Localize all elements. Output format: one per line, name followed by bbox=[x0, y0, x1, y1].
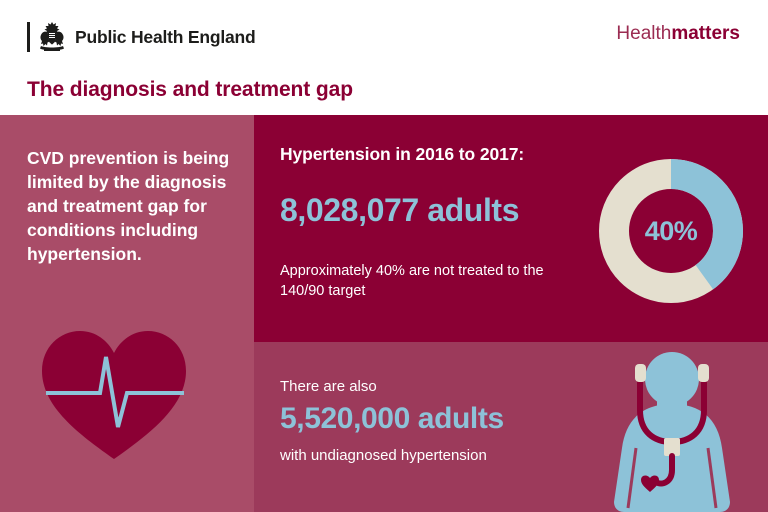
hypertension-note: Approximately 40% are not treated to the… bbox=[280, 261, 580, 301]
statement-panel: CVD prevention is being limited by the d… bbox=[0, 115, 254, 512]
health-matters-brand: Healthmatters bbox=[616, 24, 740, 43]
hypertension-panel: Hypertension in 2016 to 2017: 8,028,077 … bbox=[254, 115, 768, 342]
undiagnosed-headline-figure: 5,520,000 adults bbox=[280, 404, 504, 434]
brand-health: Health bbox=[616, 23, 671, 44]
public-health-england-logo: Public Health England bbox=[27, 20, 256, 54]
undiagnosed-intro: There are also bbox=[280, 378, 377, 395]
treatment-gap-donut-chart bbox=[599, 159, 743, 303]
page-title: The diagnosis and treatment gap bbox=[27, 78, 353, 102]
brand-matters: matters bbox=[671, 23, 740, 44]
stethoscope-earpiece-left bbox=[635, 364, 646, 382]
royal-coat-of-arms-icon bbox=[37, 21, 67, 53]
hypertension-heading: Hypertension in 2016 to 2017: bbox=[280, 144, 524, 165]
statement-text: CVD prevention is being limited by the d… bbox=[27, 146, 232, 266]
infographic-canvas: Public Health England Healthmatters The … bbox=[0, 0, 768, 512]
undiagnosed-panel: There are also 5,520,000 adults with und… bbox=[254, 342, 768, 512]
hypertension-headline-figure: 8,028,077 adults bbox=[280, 194, 519, 226]
organisation-name: Public Health England bbox=[75, 27, 256, 48]
page-header: Public Health England Healthmatters The … bbox=[0, 0, 768, 115]
undiagnosed-outro: with undiagnosed hypertension bbox=[280, 447, 487, 464]
heart-with-pulse-icon bbox=[34, 323, 194, 463]
stethoscope-earpiece-right bbox=[698, 364, 709, 382]
logo-rule bbox=[27, 22, 30, 52]
doctor-with-stethoscope-icon bbox=[592, 352, 752, 512]
